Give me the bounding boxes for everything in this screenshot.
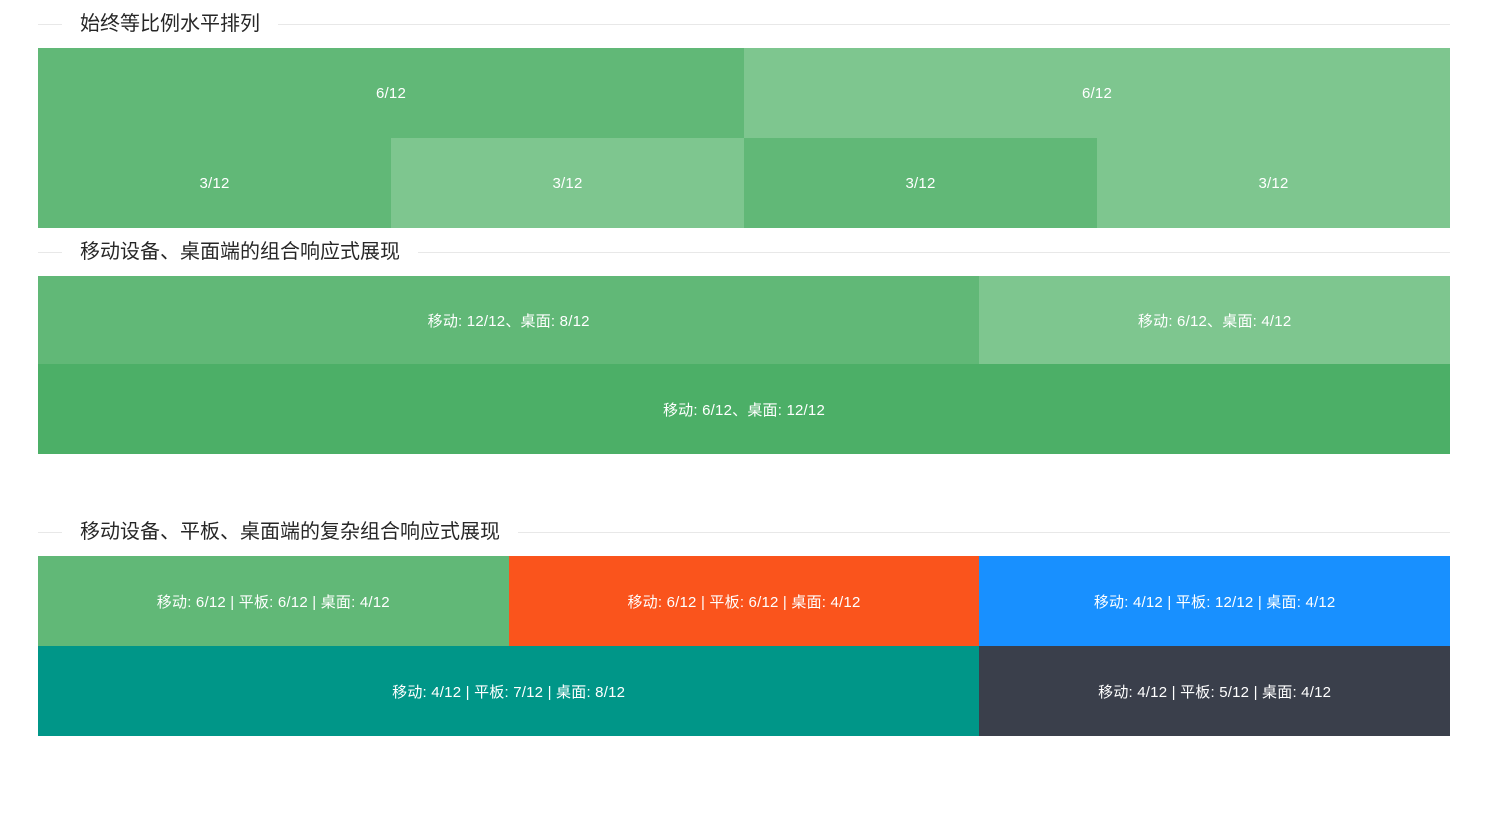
- grid-cell[interactable]: 移动: 6/12 | 平板: 6/12 | 桌面: 4/12: [509, 556, 980, 646]
- grid-cell-label: 3/12: [906, 175, 936, 192]
- grid-row: 移动: 4/12 | 平板: 7/12 | 桌面: 8/12 移动: 4/12 …: [38, 646, 1450, 736]
- grid-row: 6/12 6/12: [38, 48, 1450, 138]
- grid-row: 3/12 3/12 3/12 3/12: [38, 138, 1450, 228]
- section-title: 移动设备、桌面端的组合响应式展现: [62, 242, 418, 262]
- grid-cell-label: 3/12: [1259, 175, 1289, 192]
- grid-cell[interactable]: 移动: 6/12、桌面: 12/12: [38, 364, 1450, 454]
- grid-cell[interactable]: 移动: 4/12 | 平板: 12/12 | 桌面: 4/12: [979, 556, 1450, 646]
- grid-cell-label: 移动: 4/12 | 平板: 12/12 | 桌面: 4/12: [1094, 591, 1336, 612]
- section-title: 移动设备、平板、桌面端的复杂组合响应式展现: [62, 522, 518, 542]
- grid-cell[interactable]: 6/12: [38, 48, 744, 138]
- grid-cell-label: 移动: 6/12 | 平板: 6/12 | 桌面: 4/12: [627, 591, 860, 612]
- grid-demo-mobile-desktop: 移动: 12/12、桌面: 8/12 移动: 6/12、桌面: 4/12 移动:…: [38, 276, 1450, 454]
- grid-cell[interactable]: 3/12: [391, 138, 744, 228]
- grid-cell[interactable]: 6/12: [744, 48, 1450, 138]
- grid-row: 移动: 12/12、桌面: 8/12 移动: 6/12、桌面: 4/12: [38, 276, 1450, 364]
- grid-cell[interactable]: 3/12: [38, 138, 391, 228]
- grid-cell[interactable]: 移动: 12/12、桌面: 8/12: [38, 276, 979, 364]
- divider-rule-right: [518, 532, 1450, 533]
- divider-section-1: 始终等比例水平排列: [38, 0, 1451, 48]
- grid-cell-label: 移动: 12/12、桌面: 8/12: [428, 310, 590, 331]
- divider-rule-left: [38, 252, 62, 253]
- grid-cell[interactable]: 移动: 4/12 | 平板: 7/12 | 桌面: 8/12: [38, 646, 979, 736]
- grid-cell-label: 6/12: [376, 85, 406, 102]
- divider-section-3: 移动设备、平板、桌面端的复杂组合响应式展现: [38, 508, 1451, 556]
- grid-demo-equal-ratio: 6/12 6/12 3/12 3/12 3/12 3/12: [38, 48, 1450, 228]
- divider-rule-left: [38, 24, 62, 25]
- divider: 始终等比例水平排列: [38, 14, 1450, 34]
- grid-cell[interactable]: 3/12: [1097, 138, 1450, 228]
- grid-cell-label: 3/12: [200, 175, 230, 192]
- divider-section-2: 移动设备、桌面端的组合响应式展现: [38, 228, 1451, 276]
- divider-rule-right: [418, 252, 1450, 253]
- grid-cell[interactable]: 移动: 6/12 | 平板: 6/12 | 桌面: 4/12: [38, 556, 509, 646]
- section-spacer: [38, 454, 1451, 508]
- grid-row: 移动: 6/12 | 平板: 6/12 | 桌面: 4/12 移动: 6/12 …: [38, 556, 1450, 646]
- grid-cell-label: 移动: 4/12 | 平板: 5/12 | 桌面: 4/12: [1098, 681, 1331, 702]
- grid-cell-label: 6/12: [1082, 85, 1112, 102]
- grid-cell-label: 移动: 6/12、桌面: 4/12: [1138, 310, 1291, 331]
- grid-cell[interactable]: 移动: 4/12 | 平板: 5/12 | 桌面: 4/12: [979, 646, 1450, 736]
- grid-cell[interactable]: 3/12: [744, 138, 1097, 228]
- page-root: 始终等比例水平排列 6/12 6/12 3/12 3/12 3/12 3/12: [0, 0, 1489, 736]
- grid-cell-label: 移动: 6/12、桌面: 12/12: [663, 399, 825, 420]
- grid-cell-label: 移动: 4/12 | 平板: 7/12 | 桌面: 8/12: [392, 681, 625, 702]
- grid-cell-label: 3/12: [553, 175, 583, 192]
- grid-cell-label: 移动: 6/12 | 平板: 6/12 | 桌面: 4/12: [157, 591, 390, 612]
- divider: 移动设备、桌面端的组合响应式展现: [38, 242, 1450, 262]
- grid-demo-complex-responsive: 移动: 6/12 | 平板: 6/12 | 桌面: 4/12 移动: 6/12 …: [38, 556, 1450, 736]
- section-title: 始终等比例水平排列: [62, 14, 278, 34]
- divider-rule-right: [278, 24, 1450, 25]
- divider-rule-left: [38, 532, 62, 533]
- divider: 移动设备、平板、桌面端的复杂组合响应式展现: [38, 522, 1450, 542]
- grid-row: 移动: 6/12、桌面: 12/12: [38, 364, 1450, 454]
- grid-cell[interactable]: 移动: 6/12、桌面: 4/12: [979, 276, 1450, 364]
